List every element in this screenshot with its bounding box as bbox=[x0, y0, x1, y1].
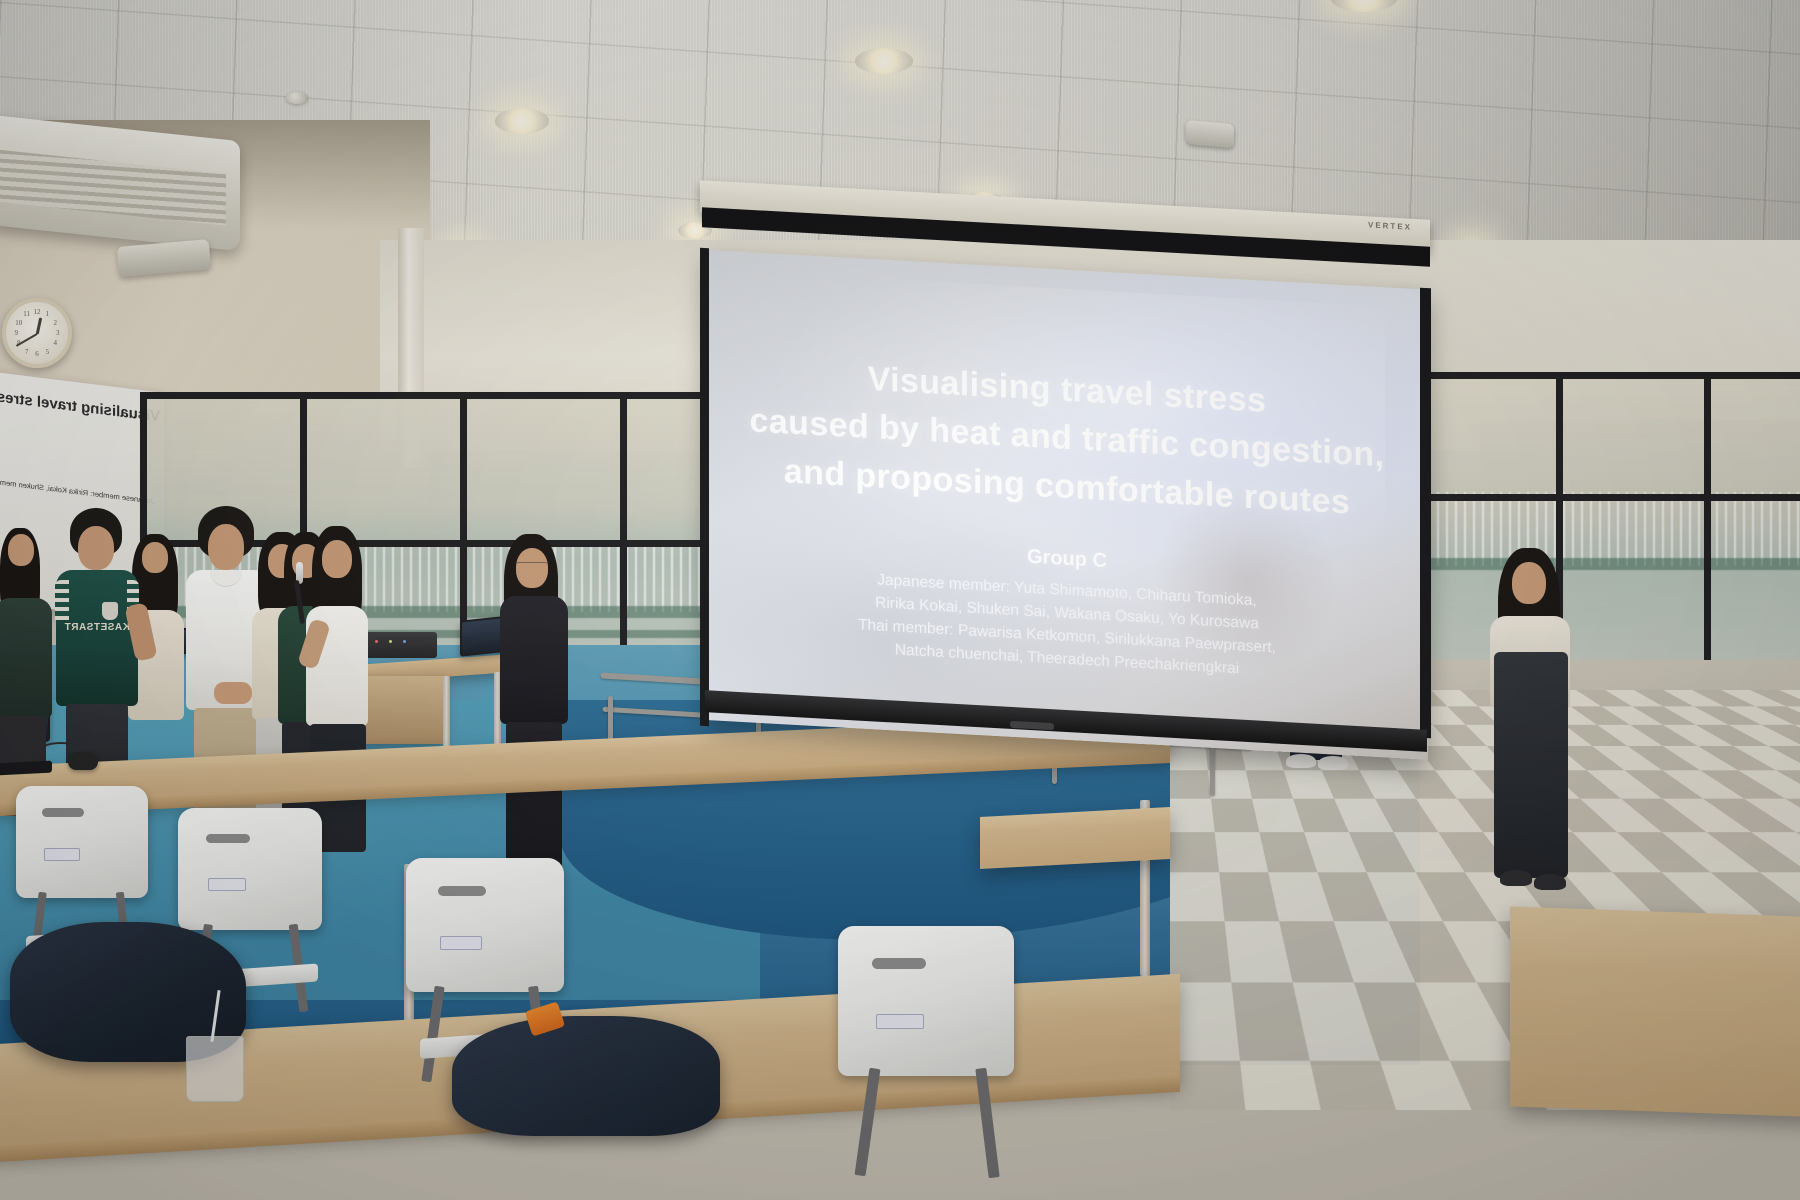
chair-handle-slot bbox=[206, 834, 250, 843]
wooden-table-far-right bbox=[1510, 906, 1800, 1117]
arms-clasped bbox=[214, 682, 252, 704]
shoe bbox=[1534, 874, 1566, 890]
chair-backrest bbox=[178, 808, 322, 930]
clock-numeral: 5 bbox=[46, 348, 50, 356]
jersey-text: KASETSART bbox=[56, 622, 138, 633]
polo-collar bbox=[210, 570, 242, 587]
glass-mullion-horizontal bbox=[140, 392, 720, 399]
ceiling-downlight bbox=[495, 108, 549, 134]
smoke-detector bbox=[1186, 120, 1234, 148]
shoe bbox=[1286, 754, 1316, 768]
eyeglasses bbox=[516, 562, 548, 571]
clock-numeral: 4 bbox=[53, 339, 57, 347]
glass-mullion-vertical bbox=[1704, 372, 1711, 702]
clock-numeral: 6 bbox=[35, 350, 39, 358]
glass-green-band bbox=[1410, 558, 1800, 570]
chair-backrest bbox=[16, 786, 148, 898]
drink-cup bbox=[186, 1036, 244, 1102]
head bbox=[1512, 562, 1546, 604]
torso-jersey: KASETSART bbox=[56, 570, 138, 706]
backpack-foreground-center bbox=[452, 1016, 720, 1136]
classroom-photo: 12 1 2 3 4 5 6 7 8 9 10 11 Visualising t… bbox=[0, 0, 1800, 1200]
air-conditioner-louvers bbox=[0, 149, 226, 226]
head bbox=[8, 534, 34, 566]
screen-frame-left bbox=[700, 248, 709, 726]
clock-numeral: 10 bbox=[15, 319, 22, 327]
jersey-stripe bbox=[55, 580, 69, 620]
chair-handle-slot bbox=[872, 958, 926, 969]
shoe bbox=[1318, 756, 1348, 770]
mixer-led bbox=[403, 640, 406, 643]
clock-numeral: 11 bbox=[23, 310, 30, 318]
mixer-led bbox=[375, 640, 378, 643]
frosted-glass-band bbox=[1410, 492, 1800, 566]
screen-frame-right bbox=[1420, 288, 1431, 739]
ceiling-downlight bbox=[855, 48, 913, 74]
torso bbox=[500, 596, 568, 724]
clock-numeral: 3 bbox=[56, 329, 60, 337]
poster-title-mirrored: Visualising travel stress caused by heat… bbox=[0, 388, 160, 428]
clock-numeral: 7 bbox=[25, 348, 29, 356]
mixer-led bbox=[389, 640, 392, 643]
poster-subtitle-mirrored: Japanese member: Ririka Kokai, Shuken me… bbox=[0, 476, 160, 508]
head bbox=[78, 526, 114, 570]
chair-handle-slot bbox=[42, 808, 84, 817]
projector-screen: Visualising travel stress caused by heat… bbox=[706, 250, 1428, 760]
chair-backrest bbox=[406, 858, 564, 992]
jersey-crest bbox=[102, 602, 118, 620]
wooden-table-right bbox=[980, 807, 1170, 869]
chair-sticker bbox=[876, 1014, 924, 1029]
clock-numeral: 9 bbox=[14, 329, 18, 337]
screen-brand-label: VERTEX bbox=[1368, 220, 1412, 231]
clock-numeral: 2 bbox=[53, 319, 57, 327]
glass-mullion-horizontal bbox=[1410, 494, 1800, 501]
chair-sticker bbox=[440, 936, 482, 950]
ceiling-speaker bbox=[286, 92, 308, 104]
head bbox=[322, 540, 352, 578]
clock-numeral: 12 bbox=[34, 308, 41, 316]
overall-dress bbox=[1494, 652, 1568, 878]
chair-sticker bbox=[44, 848, 80, 861]
shoe bbox=[1500, 870, 1532, 886]
chair-handle-slot bbox=[438, 886, 486, 896]
wall-clock: 12 1 2 3 4 5 6 7 8 9 10 11 bbox=[2, 298, 72, 368]
glass-mullion-horizontal bbox=[1410, 372, 1800, 379]
chair-backrest bbox=[838, 926, 1014, 1076]
head bbox=[208, 524, 244, 570]
chair-sticker bbox=[208, 878, 246, 891]
clock-numeral: 1 bbox=[46, 310, 50, 318]
head bbox=[142, 542, 168, 573]
torso bbox=[0, 598, 52, 718]
glass-partition-right bbox=[1410, 372, 1800, 702]
